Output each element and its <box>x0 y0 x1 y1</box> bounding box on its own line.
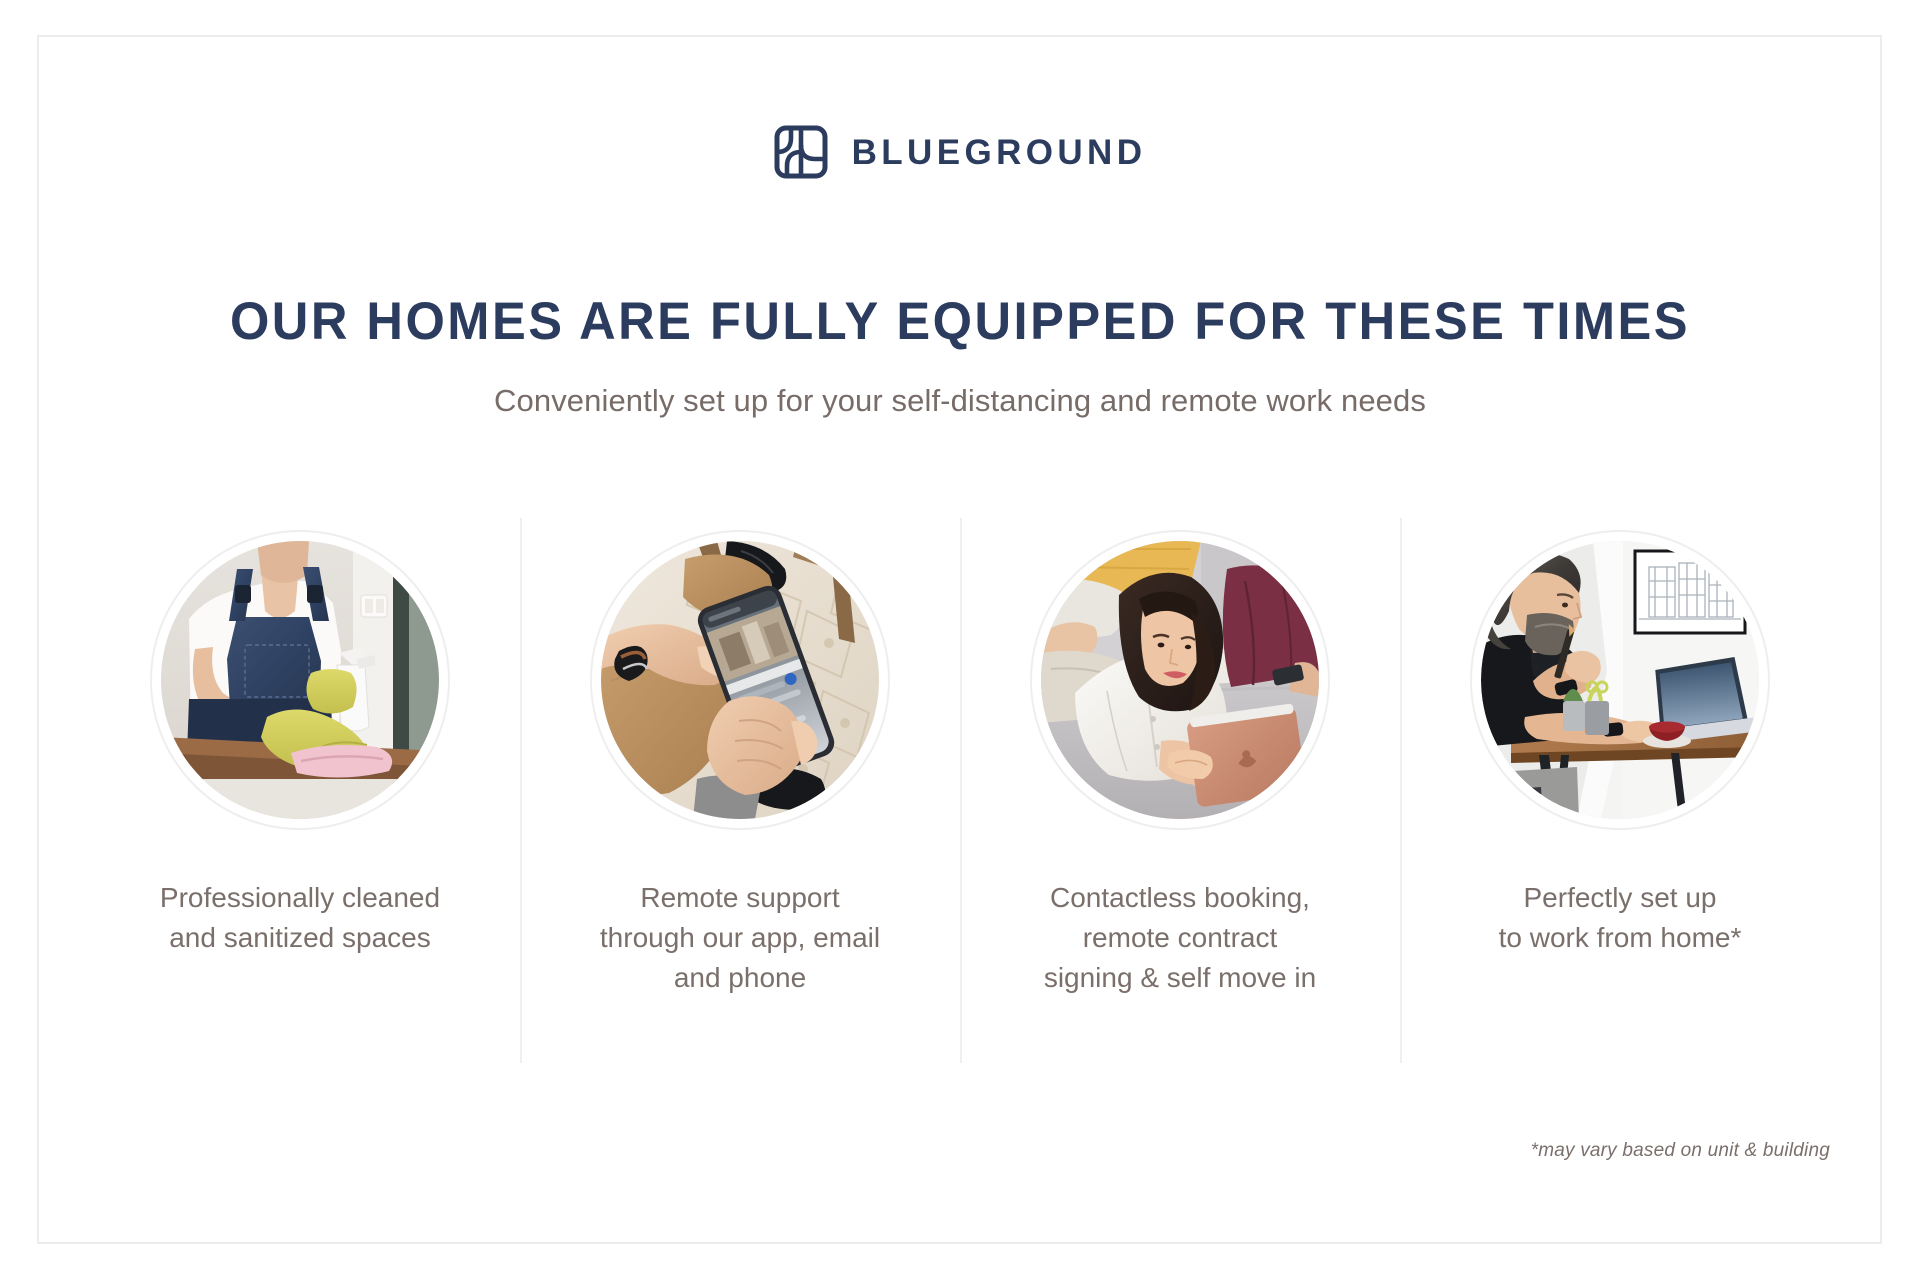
feature-photo-frame <box>1030 530 1330 830</box>
feature-item: Perfectly set up to work from home* <box>1400 518 1840 1063</box>
page-headline: OUR HOMES ARE FULLY EQUIPPED FOR THESE T… <box>43 294 1877 349</box>
blueground-square-mark-icon <box>774 125 828 179</box>
feature-item: Contactless booking, remote contract sig… <box>960 518 1400 1063</box>
feature-caption: Perfectly set up to work from home* <box>1487 878 1754 958</box>
feature-photo-frame <box>1470 530 1770 830</box>
feature-photo-ring <box>590 530 890 830</box>
brand-wordmark: BLUEGROUND <box>852 135 1147 170</box>
footnote-disclaimer: *may vary based on unit & building <box>1531 1140 1830 1162</box>
feature-photo-frame <box>590 530 890 830</box>
feature-caption: Contactless booking, remote contract sig… <box>1032 878 1328 997</box>
feature-photo-ring <box>1030 530 1330 830</box>
feature-photo-ring <box>1470 530 1770 830</box>
feature-caption: Remote support through our app, email an… <box>588 878 892 997</box>
feature-item: Professionally cleaned and sanitized spa… <box>80 518 520 1063</box>
feature-photo-frame <box>150 530 450 830</box>
feature-caption: Professionally cleaned and sanitized spa… <box>148 878 452 958</box>
page-subheadline: Conveniently set up for your self-distan… <box>0 381 1920 421</box>
feature-row: Professionally cleaned and sanitized spa… <box>80 518 1840 1063</box>
brand-lockup: BLUEGROUND <box>0 125 1920 179</box>
feature-item: Remote support through our app, email an… <box>520 518 960 1063</box>
poster-canvas: BLUEGROUND OUR HOMES ARE FULLY EQUIPPED … <box>0 0 1920 1280</box>
feature-photo-ring <box>150 530 450 830</box>
